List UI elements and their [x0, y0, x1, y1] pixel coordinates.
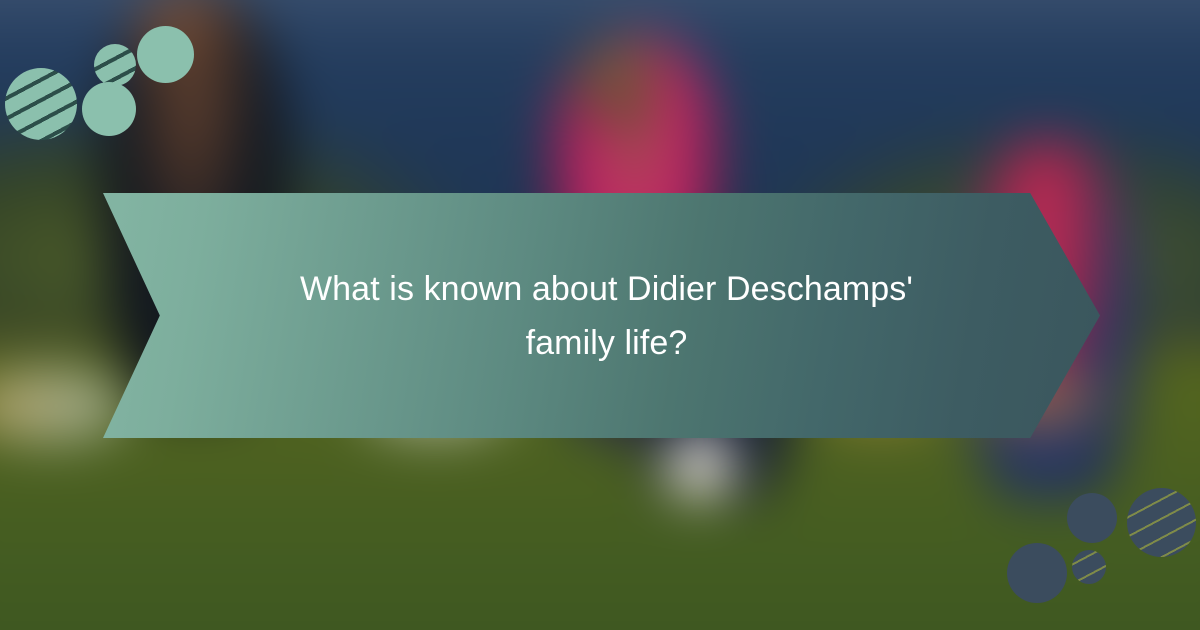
- background-player-center-head: [576, 40, 658, 126]
- headline-text: What is known about Didier Deschamps' fa…: [247, 262, 967, 370]
- circle-striped-small: [1072, 550, 1106, 584]
- headline-banner: What is known about Didier Deschamps' fa…: [103, 193, 1100, 438]
- circle-striped-small: [94, 44, 136, 86]
- social-card: What is known about Didier Deschamps' fa…: [0, 0, 1200, 630]
- circle-plain-large: [137, 26, 194, 83]
- circle-plain-medium: [82, 82, 136, 136]
- circle-striped-large: [1127, 488, 1196, 557]
- circle-striped-large: [5, 68, 77, 140]
- circle-plain-large: [1007, 543, 1067, 603]
- background-football: [666, 434, 736, 500]
- circle-plain-medium: [1067, 493, 1117, 543]
